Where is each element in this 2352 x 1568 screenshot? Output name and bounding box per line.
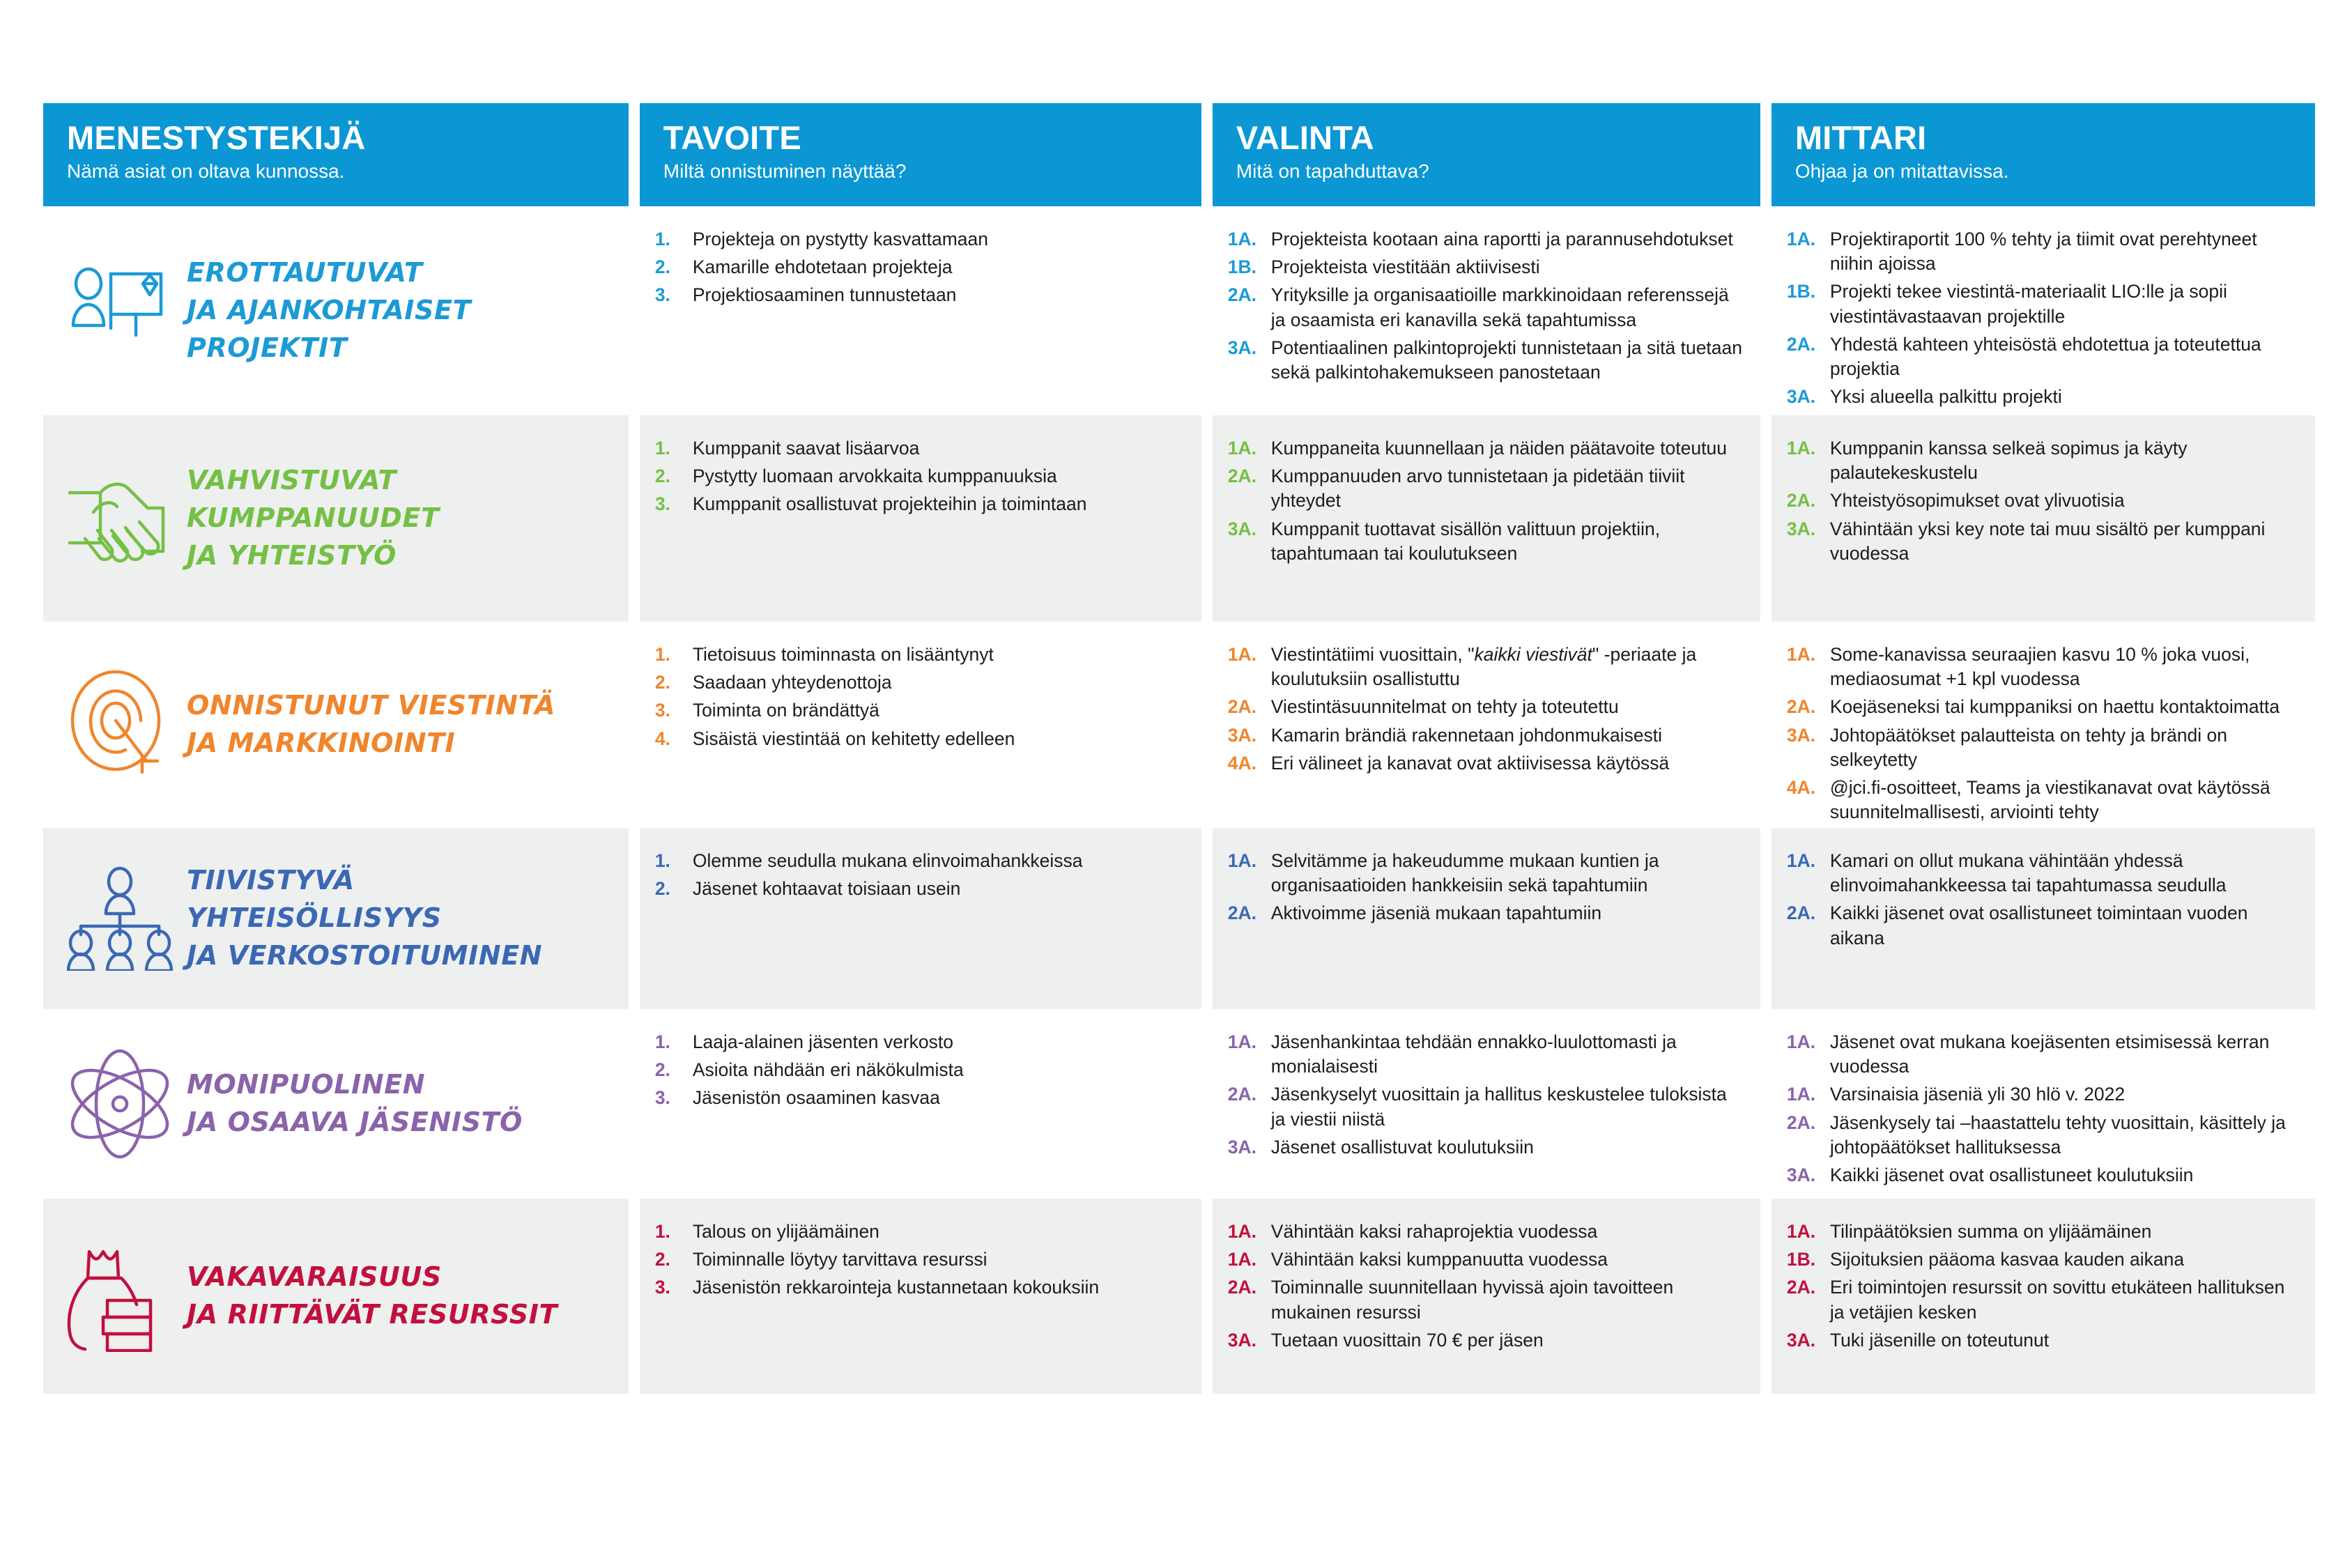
matrix-row: TIIVISTYVÄYHTEISÖLLISYYSJA VERKOSTOITUMI…: [43, 828, 2315, 1009]
item-text: Sijoituksien pääoma kasvaa kauden aikana: [1830, 1247, 2300, 1272]
item-text: Kumppanit saavat lisäarvoa: [693, 436, 1186, 461]
item-text: Varsinaisia jäseniä yli 30 hlö v. 2022: [1830, 1082, 2300, 1107]
row-title-line: TIIVISTYVÄ: [187, 862, 542, 900]
item-text: Viestintäsuunnitelmat on tehty ja toteut…: [1271, 695, 1745, 719]
row-icon-wrap: [61, 466, 178, 571]
list-item: 1A. Selvitämme ja hakeudumme mukaan kunt…: [1228, 849, 1745, 898]
list-item: 3A. Kamarin brändiä rakennetaan johdonmu…: [1228, 723, 1745, 748]
item-text: Yhteistyösopimukset ovat ylivuotisia: [1830, 489, 2300, 513]
item-text: Tietoisuus toiminnasta on lisääntynyt: [693, 643, 1186, 667]
list-item: 1A. Kumppaneita kuunnellaan ja näiden pä…: [1228, 436, 1745, 461]
item-marker: 3.: [655, 1275, 693, 1300]
item-marker: 1A.: [1228, 849, 1271, 898]
list-item: 1A. Projektiraportit 100 % tehty ja tiim…: [1787, 227, 2300, 276]
mittari-cell-wrap: 1A. Kamari on ollut mukana vähintään yhd…: [1771, 828, 2315, 1009]
item-text: Sisäistä viestintää on kehitetty edellee…: [693, 727, 1186, 751]
item-marker: 2A.: [1228, 1275, 1271, 1324]
row-title-line: EROTTAUTUVAT: [187, 254, 471, 292]
row-title: TIIVISTYVÄYHTEISÖLLISYYSJA VERKOSTOITUMI…: [178, 862, 542, 975]
list-item: 3A. Kaikki jäsenet ovat osallistuneet ko…: [1787, 1163, 2300, 1187]
item-marker: 3A.: [1228, 1135, 1271, 1160]
row-title: MONIPUOLINENJA OSAAVA JÄSENISTÖ: [178, 1066, 523, 1142]
column-subtitle: Ohjaa ja on mitattavissa.: [1795, 161, 2291, 183]
row-title-line: KUMPPANUUDET: [187, 500, 440, 537]
item-text: Selvitämme ja hakeudumme mukaan kuntien …: [1271, 849, 1745, 898]
item-marker: 1B.: [1787, 1247, 1830, 1272]
item-text: Potentiaalinen palkintoprojekti tunniste…: [1271, 336, 1745, 385]
tavoite-cell-wrap: 1. Tietoisuus toiminnasta on lisääntynyt…: [640, 622, 1201, 828]
item-marker: 2A.: [1228, 1082, 1271, 1131]
matrix-row: MONIPUOLINENJA OSAAVA JÄSENISTÖ 1. Laaja…: [43, 1009, 2315, 1199]
tavoite-cell-wrap: 1. Laaja-alainen jäsenten verkosto 2. As…: [640, 1009, 1201, 1199]
list-item: 1A. Jäsenhankintaa tehdään ennakko-luulo…: [1228, 1030, 1745, 1079]
row-title-line: JA YHTEISTYÖ: [187, 537, 440, 575]
column-header-4: MITTARIOhjaa ja on mitattavissa.: [1771, 103, 2315, 206]
item-text: Projektiosaaminen tunnustetaan: [693, 283, 1186, 307]
list-item: 2A. Toiminnalle suunnitellaan hyvissä aj…: [1228, 1275, 1745, 1324]
valinta-cell: 1A. Selvitämme ja hakeudumme mukaan kunt…: [1213, 828, 1760, 946]
valinta-cell: 1A. Jäsenhankintaa tehdään ennakko-luulo…: [1213, 1009, 1760, 1180]
item-marker: 3A.: [1787, 517, 1830, 566]
item-marker: 4.: [655, 727, 693, 751]
item-text: Kaikki jäsenet ovat osallistuneet toimin…: [1830, 901, 2300, 950]
row-title-line: JA RIITTÄVÄT RESURSSIT: [187, 1296, 558, 1334]
list-item: 3. Jäsenistön osaaminen kasvaa: [655, 1086, 1186, 1110]
list-item: 3. Projektiosaaminen tunnustetaan: [655, 283, 1186, 307]
item-marker: 2A.: [1228, 901, 1271, 925]
list-item: 1. Kumppanit saavat lisäarvoa: [655, 436, 1186, 461]
item-marker: 1A.: [1787, 1082, 1830, 1107]
list-item: 3A. Kumppanit tuottavat sisällön valittu…: [1228, 517, 1745, 566]
list-item: 1B. Sijoituksien pääoma kasvaa kauden ai…: [1787, 1247, 2300, 1272]
item-text: Kamarin brändiä rakennetaan johdonmukais…: [1271, 723, 1745, 748]
success-factor-cell: MONIPUOLINENJA OSAAVA JÄSENISTÖ: [43, 1009, 629, 1199]
row-title-line: JA VERKOSTOITUMINEN: [187, 937, 542, 975]
item-text: Aktivoimme jäseniä mukaan tapahtumiin: [1271, 901, 1745, 925]
list-item: 4A. @jci.fi-osoitteet, Teams ja viestika…: [1787, 776, 2300, 824]
item-text: Kumppaneita kuunnellaan ja näiden päätav…: [1271, 436, 1745, 461]
tavoite-cell: 1. Projekteja on pystytty kasvattamaan 2…: [640, 206, 1201, 328]
item-text: Projekteja on pystytty kasvattamaan: [693, 227, 1186, 252]
item-text: Toiminnalle suunnitellaan hyvissä ajoin …: [1271, 1275, 1745, 1324]
row-title: VAHVISTUVATKUMPPANUUDETJA YHTEISTYÖ: [178, 462, 440, 575]
item-text: Jäsenet osallistuvat koulutuksiin: [1271, 1135, 1745, 1160]
mittari-cell-wrap: 1A. Tilinpäätöksien summa on ylijäämäine…: [1771, 1199, 2315, 1394]
item-text: Jäsenhankintaa tehdään ennakko-luulottom…: [1271, 1030, 1745, 1079]
tavoite-cell: 1. Kumppanit saavat lisäarvoa 2. Pystytt…: [640, 415, 1201, 537]
item-text: Tilinpäätöksien summa on ylijäämäinen: [1830, 1220, 2300, 1244]
list-item: 1A. Kumppanin kanssa selkeä sopimus ja k…: [1787, 436, 2300, 485]
list-item: 3A. Potentiaalinen palkintoprojekti tunn…: [1228, 336, 1745, 385]
item-marker: 3.: [655, 492, 693, 516]
row-title-line: JA OSAAVA JÄSENISTÖ: [187, 1104, 523, 1142]
row-icon-wrap: [61, 259, 178, 363]
mittari-cell: 1A. Some-kanavissa seuraajien kasvu 10 %…: [1771, 622, 2315, 845]
item-marker: 2A.: [1787, 901, 1830, 950]
valinta-cell-wrap: 1A. Vähintään kaksi rahaprojektia vuodes…: [1213, 1199, 1760, 1394]
mittari-cell-wrap: 1A. Jäsenet ovat mukana koejäsenten etsi…: [1771, 1009, 2315, 1199]
row-title: VAKAVARAISUUSJA RIITTÄVÄT RESURSSIT: [178, 1259, 558, 1334]
row-title: ONNISTUNUT VIESTINTÄJA MARKKINOINTI: [178, 687, 555, 762]
item-text: Viestintätiimi vuosittain, "kaikki viest…: [1271, 643, 1745, 691]
item-text: Eri välineet ja kanavat ovat aktiivisess…: [1271, 751, 1745, 776]
item-marker: 2.: [655, 670, 693, 695]
row-title: EROTTAUTUVATJA AJANKOHTAISETPROJEKTIT: [178, 254, 471, 367]
item-text: Projekteista kootaan aina raportti ja pa…: [1271, 227, 1745, 252]
item-text: Yksi alueella palkittu projekti: [1830, 385, 2300, 409]
item-marker: 1.: [655, 643, 693, 667]
list-item: 2. Saadaan yhteydenottoja: [655, 670, 1186, 695]
success-factor-cell: ONNISTUNUT VIESTINTÄJA MARKKINOINTI: [43, 622, 629, 828]
valinta-cell-wrap: 1A. Kumppaneita kuunnellaan ja näiden pä…: [1213, 415, 1760, 622]
item-text: Johtopäätökset palautteista on tehty ja …: [1830, 723, 2300, 772]
item-text: Tuetaan vuosittain 70 € per jäsen: [1271, 1328, 1745, 1353]
list-item: 2A. Eri toimintojen resurssit on sovittu…: [1787, 1275, 2300, 1324]
row-title-line: VAKAVARAISUUS: [187, 1259, 558, 1296]
item-marker: 1A.: [1787, 1220, 1830, 1244]
item-marker: 2.: [655, 877, 693, 901]
item-text: Kumppanuuden arvo tunnistetaan ja pidetä…: [1271, 464, 1745, 513]
row-title-line: JA MARKKINOINTI: [187, 725, 555, 762]
list-item: 3A. Tuetaan vuosittain 70 € per jäsen: [1228, 1328, 1745, 1353]
item-text: Pystytty luomaan arvokkaita kumppanuuksi…: [693, 464, 1186, 489]
mittari-cell: 1A. Kamari on ollut mukana vähintään yhd…: [1771, 828, 2315, 971]
list-item: 2. Kamarille ehdotetaan projekteja: [655, 255, 1186, 279]
tavoite-cell: 1. Laaja-alainen jäsenten verkosto 2. As…: [640, 1009, 1201, 1131]
item-marker: 2.: [655, 1247, 693, 1272]
list-item: 3. Jäsenistön rekkarointeja kustannetaan…: [655, 1275, 1186, 1300]
item-text: Jäsenkysely tai –haastattelu tehty vuosi…: [1830, 1111, 2300, 1160]
list-item: 2A. Yhteistyösopimukset ovat ylivuotisia: [1787, 489, 2300, 513]
item-marker: 4A.: [1228, 751, 1271, 776]
presenter-diamond-icon: [68, 259, 172, 363]
item-text: Saadaan yhteydenottoja: [693, 670, 1186, 695]
item-marker: 1A.: [1787, 643, 1830, 691]
row-title-line: YHTEISÖLLISYYS: [187, 900, 542, 937]
item-text: Projekteista viestitään aktiivisesti: [1271, 255, 1745, 279]
strategy-matrix-page: MENESTYSTEKIJÄNämä asiat on oltava kunno…: [0, 0, 2352, 1568]
row-title-line: MONIPUOLINEN: [187, 1066, 523, 1104]
item-text: Eri toimintojen resurssit on sovittu etu…: [1830, 1275, 2300, 1324]
item-marker: 2A.: [1787, 489, 1830, 513]
item-marker: 2A.: [1787, 1275, 1830, 1324]
item-marker: 1A.: [1787, 436, 1830, 485]
item-marker: 1B.: [1787, 279, 1830, 328]
item-marker: 2.: [655, 1058, 693, 1082]
list-item: 2A. Koejäseneksi tai kumppaniksi on haet…: [1787, 695, 2300, 719]
item-marker: 3A.: [1228, 517, 1271, 566]
item-marker: 3.: [655, 698, 693, 723]
list-item: 3A. Tuki jäsenille on toteutunut: [1787, 1328, 2300, 1353]
list-item: 1. Tietoisuus toiminnasta on lisääntynyt: [655, 643, 1186, 667]
item-text: Jäsenistön rekkarointeja kustannetaan ko…: [693, 1275, 1186, 1300]
item-marker: 2A.: [1228, 283, 1271, 332]
item-text: @jci.fi-osoitteet, Teams ja viestikanava…: [1830, 776, 2300, 824]
list-item: 4. Sisäistä viestintää on kehitetty edel…: [655, 727, 1186, 751]
list-item: 3. Kumppanit osallistuvat projekteihin j…: [655, 492, 1186, 516]
item-marker: 3A.: [1228, 1328, 1271, 1353]
tavoite-cell: 1. Olemme seudulla mukana elinvoimahankk…: [640, 828, 1201, 921]
column-header-2: TAVOITEMiltä onnistuminen näyttää?: [640, 103, 1201, 206]
column-subtitle: Miltä onnistuminen näyttää?: [663, 161, 1178, 183]
item-marker: 3A.: [1787, 1163, 1830, 1187]
item-marker: 3A.: [1787, 1328, 1830, 1353]
tavoite-cell-wrap: 1. Projekteja on pystytty kasvattamaan 2…: [640, 206, 1201, 415]
item-marker: 1.: [655, 1220, 693, 1244]
list-item: 4A. Eri välineet ja kanavat ovat aktiivi…: [1228, 751, 1745, 776]
column-header-3: VALINTAMitä on tapahduttava?: [1213, 103, 1760, 206]
item-text: Kumppanit osallistuvat projekteihin ja t…: [693, 492, 1186, 516]
row-title-line: VAHVISTUVAT: [187, 462, 440, 500]
item-marker: 2.: [655, 464, 693, 489]
item-marker: 3.: [655, 283, 693, 307]
list-item: 1. Projekteja on pystytty kasvattamaan: [655, 227, 1186, 252]
item-marker: 1A.: [1787, 1030, 1830, 1079]
item-text: Toiminnalle löytyy tarvittava resurssi: [693, 1247, 1186, 1272]
item-marker: 1A.: [1228, 643, 1271, 691]
list-item: 1A. Jäsenet ovat mukana koejäsenten etsi…: [1787, 1030, 2300, 1079]
item-text: Kumppanit tuottavat sisällön valittuun p…: [1271, 517, 1745, 566]
item-text: Yrityksille ja organisaatioille markkino…: [1271, 283, 1745, 332]
item-marker: 3A.: [1228, 336, 1271, 385]
column-title: MENESTYSTEKIJÄ: [67, 121, 605, 155]
row-title-line: PROJEKTIT: [187, 330, 471, 367]
column-subtitle: Mitä on tapahduttava?: [1236, 161, 1737, 183]
item-marker: 3A.: [1787, 723, 1830, 772]
success-factor-cell: EROTTAUTUVATJA AJANKOHTAISETPROJEKTIT: [43, 206, 629, 415]
list-item: 1B. Projekti tekee viestintä-materiaalit…: [1787, 279, 2300, 328]
item-marker: 1A.: [1787, 849, 1830, 898]
item-marker: 2A.: [1228, 695, 1271, 719]
success-factor-cell: VAHVISTUVATKUMPPANUUDETJA YHTEISTYÖ: [43, 415, 629, 622]
item-marker: 1.: [655, 849, 693, 873]
valinta-cell: 1A. Projekteista kootaan aina raportti j…: [1213, 206, 1760, 405]
valinta-cell-wrap: 1A. Selvitämme ja hakeudumme mukaan kunt…: [1213, 828, 1760, 1009]
success-factor-cell: VAKAVARAISUUSJA RIITTÄVÄT RESURSSIT: [43, 1199, 629, 1394]
item-marker: 1B.: [1228, 255, 1271, 279]
column-header-1: MENESTYSTEKIJÄNämä asiat on oltava kunno…: [43, 103, 629, 206]
item-text: Some-kanavissa seuraajien kasvu 10 % jok…: [1830, 643, 2300, 691]
list-item: 1A. Varsinaisia jäseniä yli 30 hlö v. 20…: [1787, 1082, 2300, 1107]
item-marker: 1A.: [1228, 436, 1271, 461]
mittari-cell-wrap: 1A. Projektiraportit 100 % tehty ja tiim…: [1771, 206, 2315, 415]
valinta-cell: 1A. Kumppaneita kuunnellaan ja näiden pä…: [1213, 415, 1760, 586]
mittari-cell: 1A. Kumppanin kanssa selkeä sopimus ja k…: [1771, 415, 2315, 586]
row-icon-wrap: [61, 669, 178, 781]
tavoite-cell: 1. Talous on ylijäämäinen 2. Toiminnalle…: [640, 1199, 1201, 1321]
row-icon-wrap: [61, 866, 178, 971]
list-item: 2A. Aktivoimme jäseniä mukaan tapahtumii…: [1228, 901, 1745, 925]
list-item: 3. Toiminta on brändättyä: [655, 698, 1186, 723]
item-marker: 3A.: [1787, 385, 1830, 409]
item-text: Olemme seudulla mukana elinvoimahankkeis…: [693, 849, 1186, 873]
valinta-cell-wrap: 1A. Viestintätiimi vuosittain, "kaikki v…: [1213, 622, 1760, 828]
item-marker: 1A.: [1228, 1247, 1271, 1272]
mittari-cell: 1A. Projektiraportit 100 % tehty ja tiim…: [1771, 206, 2315, 430]
item-text: Jäsenistön osaaminen kasvaa: [693, 1086, 1186, 1110]
item-text: Jäsenkyselyt vuosittain ja hallitus kesk…: [1271, 1082, 1745, 1131]
target-at-icon: [64, 669, 176, 781]
valinta-cell-wrap: 1A. Jäsenhankintaa tehdään ennakko-luulo…: [1213, 1009, 1760, 1199]
item-marker: 1.: [655, 1030, 693, 1054]
matrix-row: VAHVISTUVATKUMPPANUUDETJA YHTEISTYÖ 1. K…: [43, 415, 2315, 622]
column-subtitle: Nämä asiat on oltava kunnossa.: [67, 161, 605, 183]
tavoite-cell-wrap: 1. Olemme seudulla mukana elinvoimahankk…: [640, 828, 1201, 1009]
item-marker: 2A.: [1787, 695, 1830, 719]
item-marker: 1.: [655, 436, 693, 461]
item-marker: 4A.: [1787, 776, 1830, 824]
list-item: 1B. Projekteista viestitään aktiivisesti: [1228, 255, 1745, 279]
list-item: 1A. Tilinpäätöksien summa on ylijäämäine…: [1787, 1220, 2300, 1244]
row-title-line: JA AJANKOHTAISET: [187, 292, 471, 330]
matrix-row: ONNISTUNUT VIESTINTÄJA MARKKINOINTI 1. T…: [43, 622, 2315, 828]
item-text: Jäsenet kohtaavat toisiaan usein: [693, 877, 1186, 901]
mittari-cell: 1A. Jäsenet ovat mukana koejäsenten etsi…: [1771, 1009, 2315, 1208]
list-item: 2. Jäsenet kohtaavat toisiaan usein: [655, 877, 1186, 901]
list-item: 1. Talous on ylijäämäinen: [655, 1220, 1186, 1244]
column-title: TAVOITE: [663, 121, 1178, 155]
list-item: 1A. Viestintätiimi vuosittain, "kaikki v…: [1228, 643, 1745, 691]
list-item: 2A. Jäsenkyselyt vuosittain ja hallitus …: [1228, 1082, 1745, 1131]
item-marker: 1.: [655, 227, 693, 252]
list-item: 3A. Johtopäätökset palautteista on tehty…: [1787, 723, 2300, 772]
list-item: 1A. Some-kanavissa seuraajien kasvu 10 %…: [1787, 643, 2300, 691]
column-headers: MENESTYSTEKIJÄNämä asiat on oltava kunno…: [43, 103, 2315, 206]
item-marker: 2A.: [1787, 332, 1830, 381]
mittari-cell-wrap: 1A. Kumppanin kanssa selkeä sopimus ja k…: [1771, 415, 2315, 622]
valinta-cell-wrap: 1A. Projekteista kootaan aina raportti j…: [1213, 206, 1760, 415]
list-item: 1A. Vähintään kaksi rahaprojektia vuodes…: [1228, 1220, 1745, 1244]
list-item: 1. Olemme seudulla mukana elinvoimahankk…: [655, 849, 1186, 873]
success-factor-cell: TIIVISTYVÄYHTEISÖLLISYYSJA VERKOSTOITUMI…: [43, 828, 629, 1009]
item-text: Vähintään kaksi kumppanuutta vuodessa: [1271, 1247, 1745, 1272]
matrix-body: EROTTAUTUVATJA AJANKOHTAISETPROJEKTIT 1.…: [43, 206, 2315, 1394]
matrix-grid: MENESTYSTEKIJÄNämä asiat on oltava kunno…: [43, 103, 2315, 1394]
list-item: 1. Laaja-alainen jäsenten verkosto: [655, 1030, 1186, 1054]
list-item: 2A. Kumppanuuden arvo tunnistetaan ja pi…: [1228, 464, 1745, 513]
column-title: MITTARI: [1795, 121, 2291, 155]
row-icon-wrap: [61, 1240, 178, 1352]
item-marker: 1A.: [1228, 1220, 1271, 1244]
item-marker: 1A.: [1228, 227, 1271, 252]
item-marker: 3.: [655, 1086, 693, 1110]
mittari-cell: 1A. Tilinpäätöksien summa on ylijäämäine…: [1771, 1199, 2315, 1373]
handshake-icon: [64, 466, 176, 571]
item-text: Tuki jäsenille on toteutunut: [1830, 1328, 2300, 1353]
item-text: Kamarille ehdotetaan projekteja: [693, 255, 1186, 279]
column-title: VALINTA: [1236, 121, 1737, 155]
item-text: Asioita nähdään eri näkökulmista: [693, 1058, 1186, 1082]
item-marker: 1A.: [1228, 1030, 1271, 1079]
list-item: 2A. Jäsenkysely tai –haastattelu tehty v…: [1787, 1111, 2300, 1160]
matrix-row: EROTTAUTUVATJA AJANKOHTAISETPROJEKTIT 1.…: [43, 206, 2315, 415]
list-item: 2. Pystytty luomaan arvokkaita kumppanuu…: [655, 464, 1186, 489]
matrix-row: VAKAVARAISUUSJA RIITTÄVÄT RESURSSIT 1. T…: [43, 1199, 2315, 1394]
item-text: Talous on ylijäämäinen: [693, 1220, 1186, 1244]
item-text: Vähintään kaksi rahaprojektia vuodessa: [1271, 1220, 1745, 1244]
item-marker: 2A.: [1228, 464, 1271, 513]
mittari-cell-wrap: 1A. Some-kanavissa seuraajien kasvu 10 %…: [1771, 622, 2315, 828]
valinta-cell: 1A. Viestintätiimi vuosittain, "kaikki v…: [1213, 622, 1760, 796]
money-bag-coins-icon: [64, 1240, 176, 1352]
list-item: 2A. Viestintäsuunnitelmat on tehty ja to…: [1228, 695, 1745, 719]
list-item: 3A. Yksi alueella palkittu projekti: [1787, 385, 2300, 409]
tavoite-cell-wrap: 1. Kumppanit saavat lisäarvoa 2. Pystytt…: [640, 415, 1201, 622]
list-item: 1A. Projekteista kootaan aina raportti j…: [1228, 227, 1745, 252]
list-item: 2A. Yrityksille ja organisaatioille mark…: [1228, 283, 1745, 332]
item-text: Kaikki jäsenet ovat osallistuneet koulut…: [1830, 1163, 2300, 1187]
item-marker: 3A.: [1228, 723, 1271, 748]
valinta-cell: 1A. Vähintään kaksi rahaprojektia vuodes…: [1213, 1199, 1760, 1373]
row-title-line: ONNISTUNUT VIESTINTÄ: [187, 687, 555, 725]
item-text: Kamari on ollut mukana vähintään yhdessä…: [1830, 849, 2300, 898]
item-text: Projektiraportit 100 % tehty ja tiimit o…: [1830, 227, 2300, 276]
tavoite-cell-wrap: 1. Talous on ylijäämäinen 2. Toiminnalle…: [640, 1199, 1201, 1394]
item-text: Kumppanin kanssa selkeä sopimus ja käyty…: [1830, 436, 2300, 485]
item-marker: 2.: [655, 255, 693, 279]
row-icon-wrap: [61, 1048, 178, 1160]
list-item: 3A. Jäsenet osallistuvat koulutuksiin: [1228, 1135, 1745, 1160]
list-item: 2. Asioita nähdään eri näkökulmista: [655, 1058, 1186, 1082]
atom-icon: [64, 1048, 176, 1160]
list-item: 2A. Yhdestä kahteen yhteisöstä ehdotettu…: [1787, 332, 2300, 381]
item-text: Laaja-alainen jäsenten verkosto: [693, 1030, 1186, 1054]
item-marker: 1A.: [1787, 227, 1830, 276]
item-text: Jäsenet ovat mukana koejäsenten etsimise…: [1830, 1030, 2300, 1079]
item-text: Projekti tekee viestintä-materiaalit LIO…: [1830, 279, 2300, 328]
item-text: Vähintään yksi key note tai muu sisältö …: [1830, 517, 2300, 566]
tavoite-cell: 1. Tietoisuus toiminnasta on lisääntynyt…: [640, 622, 1201, 771]
item-marker: 2A.: [1787, 1111, 1830, 1160]
list-item: 2. Toiminnalle löytyy tarvittava resurss…: [655, 1247, 1186, 1272]
list-item: 1A. Vähintään kaksi kumppanuutta vuodess…: [1228, 1247, 1745, 1272]
item-text: Toiminta on brändättyä: [693, 698, 1186, 723]
item-text: Yhdestä kahteen yhteisöstä ehdotettua ja…: [1830, 332, 2300, 381]
list-item: 1A. Kamari on ollut mukana vähintään yhd…: [1787, 849, 2300, 898]
org-chart-people-icon: [64, 866, 176, 971]
item-text: Koejäseneksi tai kumppaniksi on haettu k…: [1830, 695, 2300, 719]
list-item: 2A. Kaikki jäsenet ovat osallistuneet to…: [1787, 901, 2300, 950]
list-item: 3A. Vähintään yksi key note tai muu sisä…: [1787, 517, 2300, 566]
